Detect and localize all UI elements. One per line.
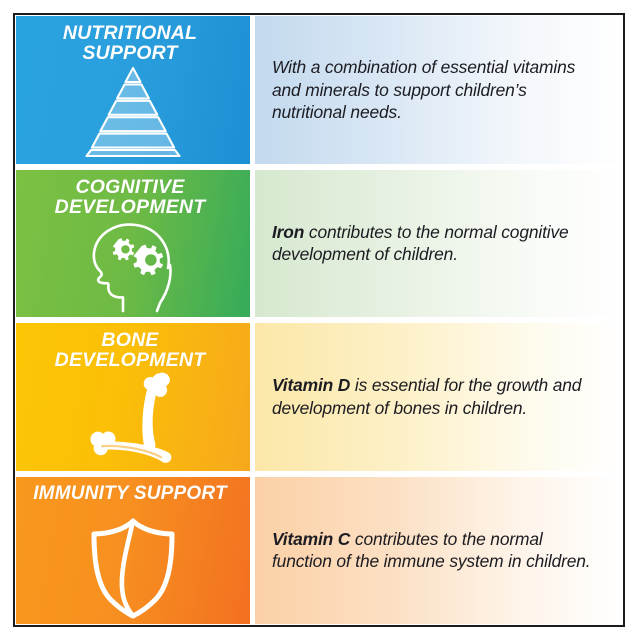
benefit-panel-bone: BONE DEVELOPMENT — [16, 323, 250, 471]
benefit-row-bone: BONE DEVELOPMENT Vitamin D is essential … — [16, 323, 622, 471]
benefit-nutrient-name: Iron — [272, 222, 304, 242]
benefit-row-cognitive: COGNITIVE DEVELOPMENT Iron contributes t… — [16, 170, 622, 318]
benefit-panel-immunity: IMMUNITY SUPPORT — [16, 477, 250, 625]
benefit-text-panel-cognitive: Iron contributes to the normal cognitive… — [255, 170, 622, 318]
benefit-panel-cognitive: COGNITIVE DEVELOPMENT — [16, 170, 250, 318]
benefit-title-nutritional: NUTRITIONAL SUPPORT — [16, 23, 244, 64]
benefit-description-text: contributes to the normal cognitive deve… — [272, 222, 569, 264]
benefit-text-panel-bone: Vitamin D is essential for the growth an… — [255, 323, 622, 471]
benefit-panel-nutritional: NUTRITIONAL SUPPORT — [16, 16, 250, 164]
benefits-infographic: NUTRITIONAL SUPPORT Wi — [13, 13, 625, 627]
benefit-nutrient-name: Vitamin D — [272, 375, 350, 395]
shield-icon — [16, 516, 250, 620]
benefit-row-immunity: IMMUNITY SUPPORT Vitamin C contributes t… — [16, 477, 622, 625]
pyramid-icon — [16, 64, 250, 160]
benefit-title-bone: BONE DEVELOPMENT — [16, 330, 244, 371]
benefit-description-bone: Vitamin D is essential for the growth an… — [255, 374, 622, 419]
benefit-title-immunity: IMMUNITY SUPPORT — [16, 484, 244, 504]
benefit-description-immunity: Vitamin C contributes to the normal func… — [255, 528, 622, 573]
benefit-title-cognitive: COGNITIVE DEVELOPMENT — [16, 177, 244, 218]
benefit-description-nutritional: With a combination of essential vitamins… — [255, 56, 622, 123]
benefit-nutrient-name: Vitamin C — [272, 529, 350, 549]
benefit-text-panel-nutritional: With a combination of essential vitamins… — [255, 16, 622, 164]
head-with-gears-icon — [16, 213, 250, 313]
bone-icon — [16, 367, 250, 467]
benefit-rows: NUTRITIONAL SUPPORT Wi — [15, 15, 623, 625]
benefit-row-nutritional: NUTRITIONAL SUPPORT Wi — [16, 16, 622, 164]
benefit-description-cognitive: Iron contributes to the normal cognitive… — [255, 221, 622, 266]
benefit-text-panel-immunity: Vitamin C contributes to the normal func… — [255, 477, 622, 625]
benefit-description-text: With a combination of essential vitamins… — [272, 57, 575, 122]
